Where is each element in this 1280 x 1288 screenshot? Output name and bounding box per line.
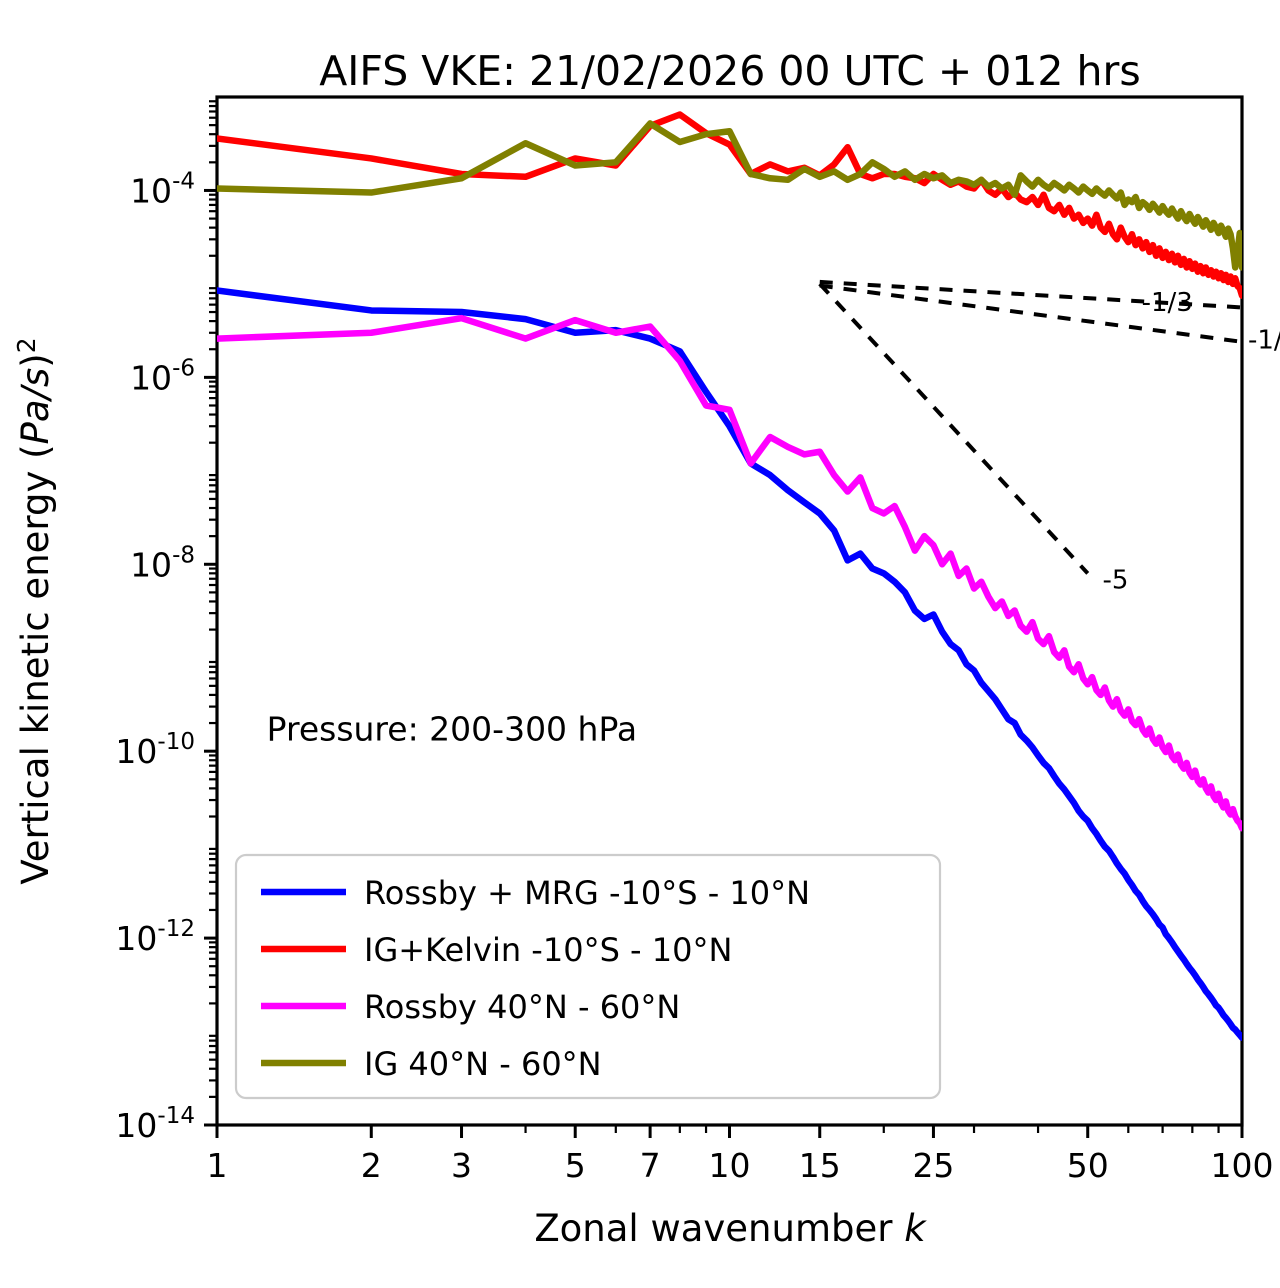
- x-axis-ticks: 1235710152550100: [207, 1125, 1274, 1185]
- y-axis-ticks: 10-410-610-810-1010-1210-14: [115, 101, 217, 1145]
- series-line-2: [217, 318, 1242, 828]
- x-tick-label: 3: [451, 1146, 472, 1185]
- x-tick-label: 25: [912, 1146, 954, 1185]
- x-tick-label: 100: [1211, 1146, 1274, 1185]
- y-tick-label: 10-12: [115, 916, 195, 958]
- chart-canvas: AIFS VKE: 21/02/2026 00 UTC + 012 hrs 12…: [0, 0, 1280, 1288]
- legend-label-1: IG+Kelvin -10°S - 10°N: [364, 931, 732, 969]
- x-axis-label-main: Zonal wavenumber: [534, 1207, 904, 1250]
- y-tick-label: 10-8: [130, 542, 195, 584]
- chart-title: AIFS VKE: 21/02/2026 00 UTC + 012 hrs: [319, 47, 1140, 95]
- slope-minus-five-label: -5: [1102, 566, 1128, 596]
- y-axis-label-exponent: 2: [12, 337, 41, 353]
- x-tick-label: 2: [361, 1146, 382, 1185]
- pressure-annotation: Pressure: 200-300 hPa: [267, 710, 637, 749]
- chart-legend[interactable]: Rossby + MRG -10°S - 10°NIG+Kelvin -10°S…: [236, 855, 940, 1098]
- plot-annotations: Pressure: 200-300 hPa: [267, 710, 637, 749]
- legend-label-3: IG 40°N - 60°N: [364, 1045, 602, 1083]
- x-tick-label: 1: [207, 1146, 228, 1185]
- y-tick-label: 10-6: [130, 355, 195, 397]
- x-axis-label-italic: k: [904, 1207, 927, 1250]
- y-axis-label-italic: Pa/s: [14, 368, 57, 445]
- figure-container: AIFS VKE: 21/02/2026 00 UTC + 012 hrs 12…: [0, 0, 1280, 1288]
- x-tick-label: 7: [640, 1146, 661, 1185]
- y-axis-label-tail: ): [14, 353, 57, 367]
- slope-minus-five: [820, 284, 1088, 573]
- y-tick-label: 10-4: [130, 168, 195, 210]
- y-tick-label: 10-10: [115, 729, 195, 771]
- series-line-1: [217, 114, 1242, 295]
- y-axis-label: Vertical kinetic energy (Pa/s)2: [12, 337, 57, 884]
- y-axis-label-main: Vertical kinetic energy (: [14, 444, 57, 884]
- legend-label-0: Rossby + MRG -10°S - 10°N: [364, 874, 810, 912]
- x-tick-label: 5: [565, 1146, 586, 1185]
- legend-label-2: Rossby 40°N - 60°N: [364, 988, 680, 1026]
- slope-minus-one-third-upper-label: -1/3: [1142, 288, 1193, 318]
- x-tick-label: 15: [799, 1146, 841, 1185]
- slope-minus-one-third-lower-label: -1/3: [1248, 326, 1280, 356]
- y-tick-label: 10-14: [115, 1103, 195, 1145]
- x-axis-label: Zonal wavenumber k: [534, 1207, 927, 1250]
- x-tick-label: 10: [709, 1146, 751, 1185]
- slope-reference-lines: -1/3-1/3-5: [820, 282, 1280, 596]
- x-tick-label: 50: [1067, 1146, 1109, 1185]
